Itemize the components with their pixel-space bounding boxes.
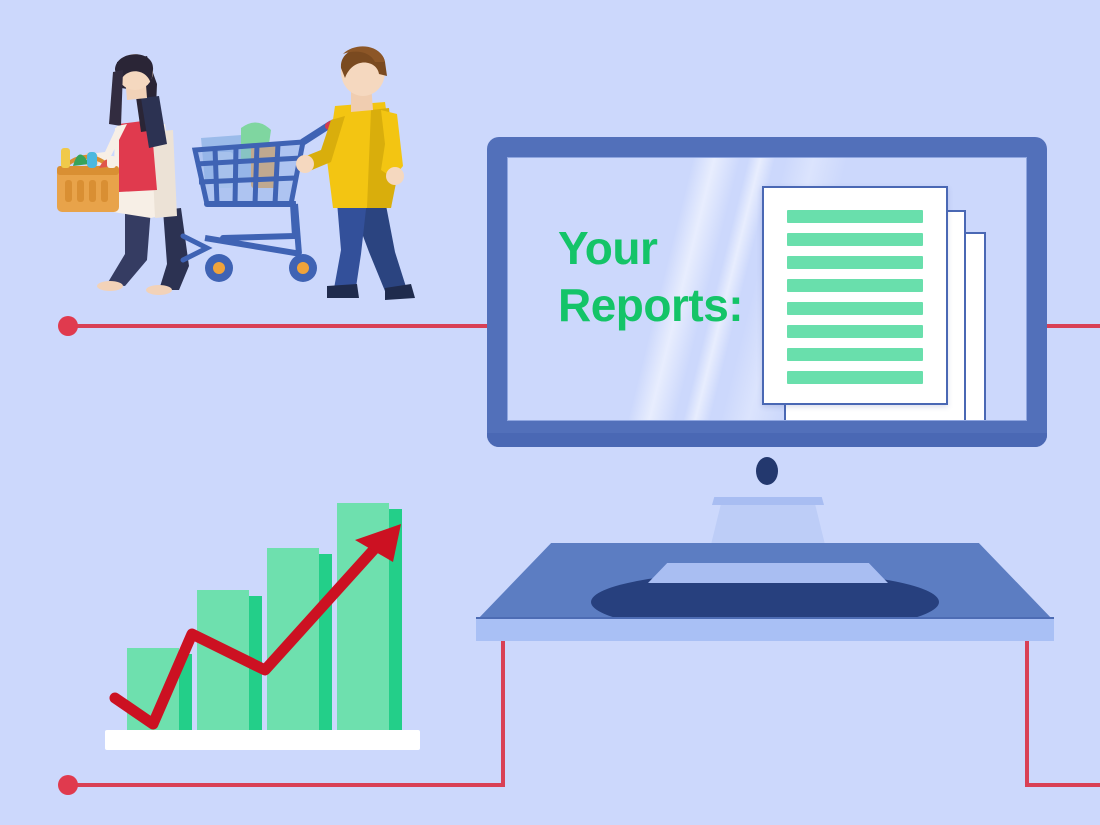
report-document-text-line bbox=[787, 371, 923, 384]
shopping-cart-illustration bbox=[183, 116, 347, 282]
report-document-front bbox=[762, 186, 948, 405]
connector-bottom-right-horizontal bbox=[1025, 783, 1100, 787]
screen-heading-line-2: Reports: bbox=[558, 277, 788, 334]
growth-bar-chart bbox=[105, 500, 430, 750]
connector-left-vertical-riser bbox=[501, 641, 505, 787]
monitor-bezel-lower-band bbox=[487, 433, 1047, 447]
report-document-text-line bbox=[787, 325, 923, 338]
monitor-camera-dot bbox=[756, 457, 778, 485]
report-document-text-line bbox=[787, 233, 923, 246]
shopping-basket bbox=[57, 148, 119, 212]
report-document-text-line bbox=[787, 256, 923, 269]
monitor-stand-neck-highlight bbox=[712, 497, 824, 505]
shoppers-svg bbox=[55, 40, 435, 305]
monitor-screen: Your Reports: bbox=[507, 157, 1027, 421]
connector-bottom-left-horizontal bbox=[68, 783, 505, 787]
connector-dot-top-left bbox=[58, 316, 78, 336]
connector-dot-bottom-left bbox=[58, 775, 78, 795]
desk-platform bbox=[476, 543, 1054, 643]
report-document-text-line bbox=[787, 348, 923, 361]
desk-front-edge bbox=[476, 619, 1054, 641]
connector-right-vertical-riser bbox=[1025, 641, 1029, 787]
screen-heading: Your Reports: bbox=[558, 220, 788, 333]
shoppers-illustration bbox=[55, 40, 435, 305]
woman-shopper-figure bbox=[57, 54, 189, 295]
desktop-monitor: Your Reports: bbox=[487, 137, 1047, 447]
report-document-text-line bbox=[787, 302, 923, 315]
illustration-canvas: Your Reports: bbox=[0, 0, 1100, 825]
report-document-text-line bbox=[787, 210, 923, 223]
chart-trend-arrow bbox=[105, 500, 430, 750]
report-document-text-line bbox=[787, 279, 923, 292]
report-documents-stack bbox=[762, 186, 984, 421]
monitor-stand-foot bbox=[648, 563, 888, 583]
screen-heading-line-1: Your bbox=[558, 220, 788, 277]
